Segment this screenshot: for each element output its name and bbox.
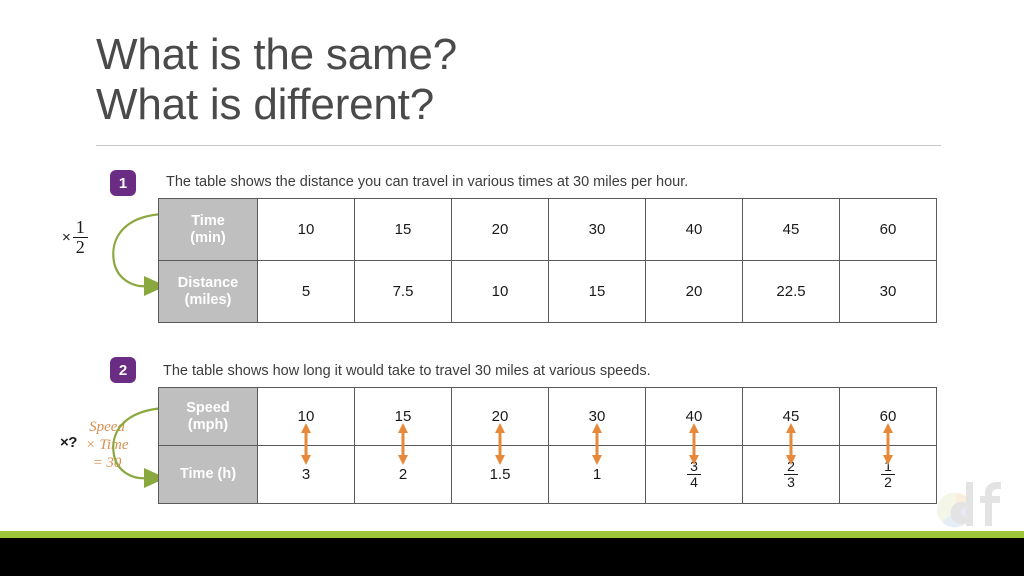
annotation-multiply-unknown: ×? <box>60 434 77 451</box>
cell-time-3: 30 <box>549 199 646 261</box>
table-speed-time: Speed (mph) 10 15 20 <box>158 387 937 504</box>
row-header-line-1: Speed <box>159 400 257 417</box>
table-row: Distance (miles) 5 7.5 10 15 20 22.5 30 <box>159 261 937 323</box>
cell-value: 45 <box>783 408 800 425</box>
table-row: Time (min) 10 15 20 30 40 45 60 <box>159 199 937 261</box>
cell-value: 40 <box>686 408 703 425</box>
fraction-numerator: 1 <box>73 218 88 237</box>
cell-distance-5: 22.5 <box>743 261 840 323</box>
cell-distance-6: 30 <box>840 261 937 323</box>
cell-distance-0: 5 <box>258 261 355 323</box>
section-badge-2: 2 <box>110 357 136 383</box>
cell-speed-6: 60 <box>840 388 937 446</box>
cell-time-6: 60 <box>840 199 937 261</box>
title-divider <box>96 145 941 146</box>
row-header-line-2: (min) <box>159 230 257 247</box>
cell-time-h-2: 1.5 <box>452 446 549 504</box>
cell-time-h-4: 3 4 <box>646 446 743 504</box>
cell-time-h-1: 2 <box>355 446 452 504</box>
row-header-line-1: Distance <box>159 275 257 292</box>
cell-speed-3: 30 <box>549 388 646 446</box>
row-header-line-2: (miles) <box>159 292 257 309</box>
cell-time-2: 20 <box>452 199 549 261</box>
row-header-line-1: Time <box>159 213 257 230</box>
cell-time-5: 45 <box>743 199 840 261</box>
title-line-1: What is the same? <box>96 30 956 80</box>
fraction-one-half: 1 2 <box>73 218 88 257</box>
cell-time-0: 10 <box>258 199 355 261</box>
fraction-denominator: 4 <box>687 474 701 490</box>
cell-speed-0: 10 <box>258 388 355 446</box>
fraction-numerator: 1 <box>881 459 895 474</box>
cell-distance-3: 15 <box>549 261 646 323</box>
multiply-symbol: × <box>62 229 71 246</box>
cell-value: 10 <box>298 408 315 425</box>
fraction-numerator: 3 <box>687 459 701 474</box>
row-header-time-h: Time (h) <box>159 446 258 504</box>
cell-value: 60 <box>880 408 897 425</box>
cell-time-1: 15 <box>355 199 452 261</box>
cell-speed-5: 45 <box>743 388 840 446</box>
cell-distance-4: 20 <box>646 261 743 323</box>
title-line-2: What is different? <box>96 80 956 130</box>
table-row: Time (h) 3 2 1.5 1 3 4 2 3 1 <box>159 446 937 504</box>
table-distance-time: Time (min) 10 15 20 30 40 45 60 Distance… <box>158 198 937 323</box>
page-title: What is the same? What is different? <box>96 30 956 130</box>
section-badge-1: 1 <box>110 170 136 196</box>
row-header-speed-mph: Speed (mph) <box>159 388 258 446</box>
row-header-time-min: Time (min) <box>159 199 258 261</box>
cell-distance-1: 7.5 <box>355 261 452 323</box>
fraction-numerator: 2 <box>784 459 798 474</box>
fraction-one-half: 1 2 <box>881 459 895 489</box>
footer-black-bar <box>0 538 1024 576</box>
cell-time-h-3: 1 <box>549 446 646 504</box>
table-row: Speed (mph) 10 15 20 <box>159 388 937 446</box>
cell-distance-2: 10 <box>452 261 549 323</box>
cell-speed-2: 20 <box>452 388 549 446</box>
cell-time-4: 40 <box>646 199 743 261</box>
cell-value: 20 <box>492 408 509 425</box>
cell-time-h-0: 3 <box>258 446 355 504</box>
fraction-three-quarters: 3 4 <box>687 459 701 489</box>
fraction-denominator: 3 <box>784 474 798 490</box>
cell-value: 30 <box>589 408 606 425</box>
footer-green-stripe <box>0 531 1024 538</box>
df-watermark-logo <box>930 476 1010 532</box>
cell-value: 15 <box>395 408 412 425</box>
cell-speed-4: 40 <box>646 388 743 446</box>
fraction-denominator: 2 <box>73 237 88 257</box>
annotation-multiply-half: × 1 2 <box>62 218 88 257</box>
row-header-line-1: Time (h) <box>159 466 257 483</box>
row-header-distance-miles: Distance (miles) <box>159 261 258 323</box>
cell-speed-1: 15 <box>355 388 452 446</box>
cell-time-h-6: 1 2 <box>840 446 937 504</box>
section-2-prompt: The table shows how long it would take t… <box>163 363 651 379</box>
cell-time-h-5: 2 3 <box>743 446 840 504</box>
section-1-prompt: The table shows the distance you can tra… <box>166 174 688 190</box>
fraction-denominator: 2 <box>881 474 895 490</box>
row-header-line-2: (mph) <box>159 417 257 434</box>
fraction-two-thirds: 2 3 <box>784 459 798 489</box>
